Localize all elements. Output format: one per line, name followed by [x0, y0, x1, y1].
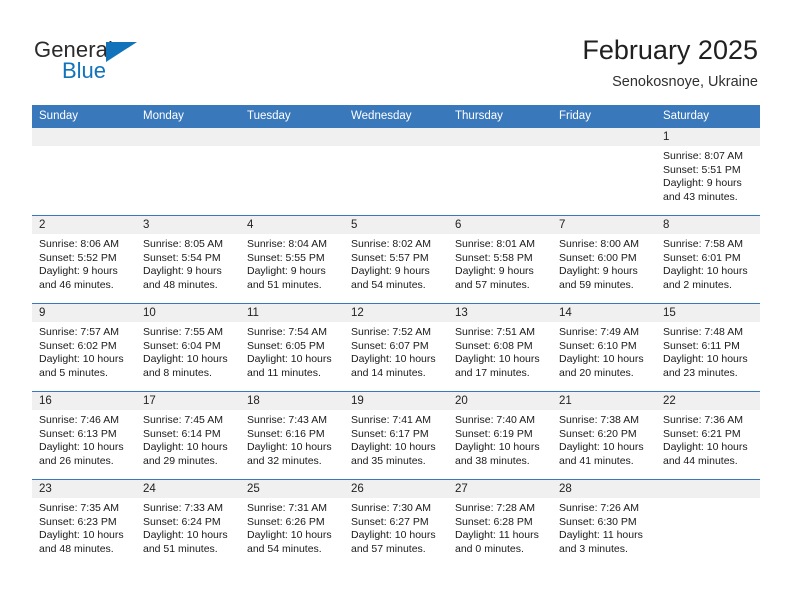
weekday-header-tuesday: Tuesday [240, 105, 344, 128]
day-details: Sunrise: 7:46 AMSunset: 6:13 PMDaylight:… [32, 410, 136, 468]
sunset-time: Sunset: 5:51 PM [663, 164, 754, 178]
day-number: 19 [344, 392, 448, 410]
daylight-duration-line2: and 48 minutes. [143, 279, 234, 293]
sunset-time: Sunset: 6:17 PM [351, 428, 442, 442]
logo-text-blue: Blue [62, 59, 106, 83]
daylight-duration-line1: Daylight: 11 hours [455, 529, 546, 543]
calendar-day-cell[interactable]: 27Sunrise: 7:28 AMSunset: 6:28 PMDayligh… [448, 480, 552, 568]
sunset-time: Sunset: 6:05 PM [247, 340, 338, 354]
daylight-duration-line2: and 14 minutes. [351, 367, 442, 381]
daylight-duration-line1: Daylight: 10 hours [663, 265, 754, 279]
calendar-day-cell-empty [32, 128, 136, 216]
day-number: 18 [240, 392, 344, 410]
day-details: Sunrise: 7:41 AMSunset: 6:17 PMDaylight:… [344, 410, 448, 468]
sunrise-time: Sunrise: 7:43 AM [247, 414, 338, 428]
weekday-header-thursday: Thursday [448, 105, 552, 128]
sunrise-time: Sunrise: 8:02 AM [351, 238, 442, 252]
daylight-duration-line2: and 54 minutes. [351, 279, 442, 293]
calendar-day-cell-empty [136, 128, 240, 216]
day-details: Sunrise: 7:48 AMSunset: 6:11 PMDaylight:… [656, 322, 760, 380]
day-number: 1 [656, 128, 760, 146]
day-number: 13 [448, 304, 552, 322]
sunset-time: Sunset: 6:19 PM [455, 428, 546, 442]
calendar-day-cell[interactable]: 19Sunrise: 7:41 AMSunset: 6:17 PMDayligh… [344, 392, 448, 480]
day-details: Sunrise: 7:45 AMSunset: 6:14 PMDaylight:… [136, 410, 240, 468]
sunrise-time: Sunrise: 7:38 AM [559, 414, 650, 428]
calendar-day-cell[interactable]: 17Sunrise: 7:45 AMSunset: 6:14 PMDayligh… [136, 392, 240, 480]
daylight-duration-line2: and 46 minutes. [39, 279, 130, 293]
daylight-duration-line1: Daylight: 11 hours [559, 529, 650, 543]
calendar-page: General Blue February 2025 Senokosnoye, … [0, 0, 792, 612]
daylight-duration-line2: and 59 minutes. [559, 279, 650, 293]
sunset-time: Sunset: 6:00 PM [559, 252, 650, 266]
daylight-duration-line2: and 32 minutes. [247, 455, 338, 469]
calendar-day-cell[interactable]: 12Sunrise: 7:52 AMSunset: 6:07 PMDayligh… [344, 304, 448, 392]
calendar-day-cell[interactable]: 4Sunrise: 8:04 AMSunset: 5:55 PMDaylight… [240, 216, 344, 304]
sunset-time: Sunset: 6:21 PM [663, 428, 754, 442]
daylight-duration-line1: Daylight: 10 hours [39, 353, 130, 367]
day-details: Sunrise: 7:57 AMSunset: 6:02 PMDaylight:… [32, 322, 136, 380]
day-details: Sunrise: 7:40 AMSunset: 6:19 PMDaylight:… [448, 410, 552, 468]
sunrise-time: Sunrise: 7:52 AM [351, 326, 442, 340]
day-details: Sunrise: 8:07 AMSunset: 5:51 PMDaylight:… [656, 146, 760, 204]
day-number: 12 [344, 304, 448, 322]
day-number: 15 [656, 304, 760, 322]
sunset-time: Sunset: 6:24 PM [143, 516, 234, 530]
calendar-day-cell[interactable]: 22Sunrise: 7:36 AMSunset: 6:21 PMDayligh… [656, 392, 760, 480]
logo-triangle-icon [106, 42, 137, 62]
daylight-duration-line1: Daylight: 10 hours [351, 353, 442, 367]
day-number: 25 [240, 480, 344, 498]
day-number: 2 [32, 216, 136, 234]
calendar-day-cell[interactable]: 13Sunrise: 7:51 AMSunset: 6:08 PMDayligh… [448, 304, 552, 392]
daylight-duration-line1: Daylight: 9 hours [39, 265, 130, 279]
calendar-day-cell[interactable]: 7Sunrise: 8:00 AMSunset: 6:00 PMDaylight… [552, 216, 656, 304]
day-details: Sunrise: 7:26 AMSunset: 6:30 PMDaylight:… [552, 498, 656, 556]
day-number: 11 [240, 304, 344, 322]
daylight-duration-line1: Daylight: 10 hours [143, 353, 234, 367]
sunrise-time: Sunrise: 7:41 AM [351, 414, 442, 428]
day-details: Sunrise: 7:30 AMSunset: 6:27 PMDaylight:… [344, 498, 448, 556]
day-number: 23 [32, 480, 136, 498]
page-title: February 2025 [582, 34, 758, 67]
day-number: 8 [656, 216, 760, 234]
day-details: Sunrise: 7:51 AMSunset: 6:08 PMDaylight:… [448, 322, 552, 380]
weekday-header-wednesday: Wednesday [344, 105, 448, 128]
title-block: February 2025 Senokosnoye, Ukraine [582, 34, 758, 91]
day-details: Sunrise: 7:52 AMSunset: 6:07 PMDaylight:… [344, 322, 448, 380]
day-number [136, 128, 240, 146]
general-blue-logo[interactable]: General Blue [34, 38, 234, 84]
day-details: Sunrise: 7:55 AMSunset: 6:04 PMDaylight:… [136, 322, 240, 380]
daylight-duration-line1: Daylight: 9 hours [247, 265, 338, 279]
sunset-time: Sunset: 5:58 PM [455, 252, 546, 266]
day-number: 10 [136, 304, 240, 322]
daylight-duration-line2: and 20 minutes. [559, 367, 650, 381]
daylight-duration-line1: Daylight: 9 hours [663, 177, 754, 191]
calendar-day-cell-empty [656, 480, 760, 568]
calendar-day-cell[interactable]: 28Sunrise: 7:26 AMSunset: 6:30 PMDayligh… [552, 480, 656, 568]
day-details: Sunrise: 7:36 AMSunset: 6:21 PMDaylight:… [656, 410, 760, 468]
day-number: 5 [344, 216, 448, 234]
daylight-duration-line2: and 54 minutes. [247, 543, 338, 557]
daylight-duration-line1: Daylight: 10 hours [247, 353, 338, 367]
sunrise-time: Sunrise: 7:36 AM [663, 414, 754, 428]
daylight-duration-line1: Daylight: 9 hours [559, 265, 650, 279]
day-details: Sunrise: 7:49 AMSunset: 6:10 PMDaylight:… [552, 322, 656, 380]
calendar-day-cell[interactable]: 15Sunrise: 7:48 AMSunset: 6:11 PMDayligh… [656, 304, 760, 392]
sunset-time: Sunset: 6:11 PM [663, 340, 754, 354]
sunset-time: Sunset: 6:10 PM [559, 340, 650, 354]
calendar-week-row: 1Sunrise: 8:07 AMSunset: 5:51 PMDaylight… [32, 128, 760, 216]
sunrise-time: Sunrise: 8:07 AM [663, 150, 754, 164]
sunrise-time: Sunrise: 7:57 AM [39, 326, 130, 340]
day-details: Sunrise: 7:28 AMSunset: 6:28 PMDaylight:… [448, 498, 552, 556]
daylight-duration-line2: and 8 minutes. [143, 367, 234, 381]
daylight-duration-line2: and 51 minutes. [247, 279, 338, 293]
calendar-body: 1Sunrise: 8:07 AMSunset: 5:51 PMDaylight… [32, 128, 760, 568]
calendar-header-row: SundayMondayTuesdayWednesdayThursdayFrid… [32, 105, 760, 128]
sunrise-time: Sunrise: 7:30 AM [351, 502, 442, 516]
daylight-duration-line1: Daylight: 10 hours [143, 529, 234, 543]
daylight-duration-line1: Daylight: 10 hours [143, 441, 234, 455]
sunrise-time: Sunrise: 7:51 AM [455, 326, 546, 340]
sunset-time: Sunset: 6:07 PM [351, 340, 442, 354]
calendar-day-cell[interactable]: 20Sunrise: 7:40 AMSunset: 6:19 PMDayligh… [448, 392, 552, 480]
sunset-time: Sunset: 6:04 PM [143, 340, 234, 354]
calendar-day-cell[interactable]: 5Sunrise: 8:02 AMSunset: 5:57 PMDaylight… [344, 216, 448, 304]
day-details: Sunrise: 8:00 AMSunset: 6:00 PMDaylight:… [552, 234, 656, 292]
sunrise-time: Sunrise: 7:55 AM [143, 326, 234, 340]
sunset-time: Sunset: 5:55 PM [247, 252, 338, 266]
daylight-duration-line2: and 35 minutes. [351, 455, 442, 469]
day-number: 28 [552, 480, 656, 498]
sunrise-time: Sunrise: 7:26 AM [559, 502, 650, 516]
daylight-duration-line2: and 29 minutes. [143, 455, 234, 469]
sunset-time: Sunset: 5:57 PM [351, 252, 442, 266]
calendar-day-cell[interactable]: 25Sunrise: 7:31 AMSunset: 6:26 PMDayligh… [240, 480, 344, 568]
day-number [552, 128, 656, 146]
day-details: Sunrise: 8:04 AMSunset: 5:55 PMDaylight:… [240, 234, 344, 292]
daylight-duration-line2: and 41 minutes. [559, 455, 650, 469]
day-number: 3 [136, 216, 240, 234]
sunrise-time: Sunrise: 7:28 AM [455, 502, 546, 516]
day-number: 16 [32, 392, 136, 410]
sunset-time: Sunset: 6:30 PM [559, 516, 650, 530]
daylight-duration-line2: and 23 minutes. [663, 367, 754, 381]
daylight-duration-line1: Daylight: 10 hours [663, 353, 754, 367]
day-details: Sunrise: 7:38 AMSunset: 6:20 PMDaylight:… [552, 410, 656, 468]
calendar-day-cell[interactable]: 10Sunrise: 7:55 AMSunset: 6:04 PMDayligh… [136, 304, 240, 392]
day-number [32, 128, 136, 146]
sunset-time: Sunset: 6:08 PM [455, 340, 546, 354]
day-number: 9 [32, 304, 136, 322]
day-details: Sunrise: 8:06 AMSunset: 5:52 PMDaylight:… [32, 234, 136, 292]
sunset-time: Sunset: 6:20 PM [559, 428, 650, 442]
day-number: 6 [448, 216, 552, 234]
daylight-duration-line2: and 0 minutes. [455, 543, 546, 557]
day-number [240, 128, 344, 146]
calendar-week-row: 2Sunrise: 8:06 AMSunset: 5:52 PMDaylight… [32, 216, 760, 304]
day-number: 7 [552, 216, 656, 234]
daylight-duration-line2: and 51 minutes. [143, 543, 234, 557]
daylight-duration-line2: and 11 minutes. [247, 367, 338, 381]
sunset-time: Sunset: 6:28 PM [455, 516, 546, 530]
calendar-day-cell-empty [552, 128, 656, 216]
daylight-duration-line1: Daylight: 10 hours [39, 529, 130, 543]
daylight-duration-line2: and 57 minutes. [351, 543, 442, 557]
sunrise-time: Sunrise: 7:33 AM [143, 502, 234, 516]
sunset-time: Sunset: 6:27 PM [351, 516, 442, 530]
daylight-duration-line1: Daylight: 10 hours [559, 441, 650, 455]
day-number [448, 128, 552, 146]
day-details: Sunrise: 7:58 AMSunset: 6:01 PMDaylight:… [656, 234, 760, 292]
day-details: Sunrise: 8:01 AMSunset: 5:58 PMDaylight:… [448, 234, 552, 292]
daylight-duration-line1: Daylight: 10 hours [247, 529, 338, 543]
daylight-duration-line1: Daylight: 10 hours [559, 353, 650, 367]
sunset-time: Sunset: 5:54 PM [143, 252, 234, 266]
sunrise-time: Sunrise: 7:45 AM [143, 414, 234, 428]
sunset-time: Sunset: 6:26 PM [247, 516, 338, 530]
sunset-time: Sunset: 6:02 PM [39, 340, 130, 354]
calendar-day-cell[interactable]: 9Sunrise: 7:57 AMSunset: 6:02 PMDaylight… [32, 304, 136, 392]
daylight-duration-line2: and 44 minutes. [663, 455, 754, 469]
day-number: 17 [136, 392, 240, 410]
daylight-duration-line1: Daylight: 10 hours [39, 441, 130, 455]
calendar-day-cell[interactable]: 11Sunrise: 7:54 AMSunset: 6:05 PMDayligh… [240, 304, 344, 392]
day-details: Sunrise: 7:54 AMSunset: 6:05 PMDaylight:… [240, 322, 344, 380]
calendar-day-cell[interactable]: 26Sunrise: 7:30 AMSunset: 6:27 PMDayligh… [344, 480, 448, 568]
calendar-day-cell[interactable]: 3Sunrise: 8:05 AMSunset: 5:54 PMDaylight… [136, 216, 240, 304]
sunrise-time: Sunrise: 7:54 AM [247, 326, 338, 340]
sunrise-time: Sunrise: 7:49 AM [559, 326, 650, 340]
day-details: Sunrise: 7:31 AMSunset: 6:26 PMDaylight:… [240, 498, 344, 556]
sunrise-time: Sunrise: 8:05 AM [143, 238, 234, 252]
sunrise-time: Sunrise: 8:01 AM [455, 238, 546, 252]
sunrise-time: Sunrise: 7:48 AM [663, 326, 754, 340]
daylight-duration-line2: and 26 minutes. [39, 455, 130, 469]
weekday-header-friday: Friday [552, 105, 656, 128]
sunset-time: Sunset: 6:23 PM [39, 516, 130, 530]
calendar-day-cell[interactable]: 23Sunrise: 7:35 AMSunset: 6:23 PMDayligh… [32, 480, 136, 568]
daylight-duration-line1: Daylight: 9 hours [143, 265, 234, 279]
calendar-day-cell[interactable]: 18Sunrise: 7:43 AMSunset: 6:16 PMDayligh… [240, 392, 344, 480]
day-number: 26 [344, 480, 448, 498]
sunset-time: Sunset: 6:16 PM [247, 428, 338, 442]
calendar-day-cell[interactable]: 21Sunrise: 7:38 AMSunset: 6:20 PMDayligh… [552, 392, 656, 480]
calendar-day-cell-empty [240, 128, 344, 216]
daylight-duration-line1: Daylight: 9 hours [455, 265, 546, 279]
day-details: Sunrise: 7:33 AMSunset: 6:24 PMDaylight:… [136, 498, 240, 556]
sunrise-time: Sunrise: 8:00 AM [559, 238, 650, 252]
calendar-day-cell[interactable]: 6Sunrise: 8:01 AMSunset: 5:58 PMDaylight… [448, 216, 552, 304]
sunset-time: Sunset: 5:52 PM [39, 252, 130, 266]
day-number: 22 [656, 392, 760, 410]
sunrise-time: Sunrise: 8:06 AM [39, 238, 130, 252]
daylight-duration-line1: Daylight: 10 hours [351, 441, 442, 455]
day-number: 14 [552, 304, 656, 322]
daylight-duration-line2: and 48 minutes. [39, 543, 130, 557]
calendar-day-cell-empty [344, 128, 448, 216]
sunset-time: Sunset: 6:14 PM [143, 428, 234, 442]
calendar-day-cell[interactable]: 14Sunrise: 7:49 AMSunset: 6:10 PMDayligh… [552, 304, 656, 392]
day-number: 27 [448, 480, 552, 498]
daylight-duration-line1: Daylight: 10 hours [247, 441, 338, 455]
day-number: 20 [448, 392, 552, 410]
day-details: Sunrise: 8:05 AMSunset: 5:54 PMDaylight:… [136, 234, 240, 292]
daylight-duration-line2: and 38 minutes. [455, 455, 546, 469]
daylight-duration-line1: Daylight: 9 hours [351, 265, 442, 279]
daylight-duration-line2: and 57 minutes. [455, 279, 546, 293]
sunrise-time: Sunrise: 7:40 AM [455, 414, 546, 428]
weekday-header-sunday: Sunday [32, 105, 136, 128]
day-number [344, 128, 448, 146]
day-number: 4 [240, 216, 344, 234]
calendar-table: SundayMondayTuesdayWednesdayThursdayFrid… [32, 105, 760, 568]
day-number: 24 [136, 480, 240, 498]
sunrise-time: Sunrise: 7:31 AM [247, 502, 338, 516]
weekday-header-monday: Monday [136, 105, 240, 128]
sunrise-time: Sunrise: 8:04 AM [247, 238, 338, 252]
calendar-week-row: 16Sunrise: 7:46 AMSunset: 6:13 PMDayligh… [32, 392, 760, 480]
day-details: Sunrise: 7:35 AMSunset: 6:23 PMDaylight:… [32, 498, 136, 556]
calendar-day-cell[interactable]: 8Sunrise: 7:58 AMSunset: 6:01 PMDaylight… [656, 216, 760, 304]
daylight-duration-line1: Daylight: 10 hours [455, 441, 546, 455]
daylight-duration-line2: and 3 minutes. [559, 543, 650, 557]
sunrise-time: Sunrise: 7:35 AM [39, 502, 130, 516]
weekday-header-saturday: Saturday [656, 105, 760, 128]
sunset-time: Sunset: 6:13 PM [39, 428, 130, 442]
daylight-duration-line1: Daylight: 10 hours [455, 353, 546, 367]
sunset-time: Sunset: 6:01 PM [663, 252, 754, 266]
daylight-duration-line1: Daylight: 10 hours [351, 529, 442, 543]
daylight-duration-line2: and 17 minutes. [455, 367, 546, 381]
sunrise-time: Sunrise: 7:46 AM [39, 414, 130, 428]
daylight-duration-line2: and 43 minutes. [663, 191, 754, 205]
page-header: General Blue February 2025 Senokosnoye, … [0, 0, 792, 100]
sunrise-time: Sunrise: 7:58 AM [663, 238, 754, 252]
calendar-day-cell[interactable]: 24Sunrise: 7:33 AMSunset: 6:24 PMDayligh… [136, 480, 240, 568]
daylight-duration-line2: and 2 minutes. [663, 279, 754, 293]
day-number [656, 480, 760, 498]
calendar-week-row: 9Sunrise: 7:57 AMSunset: 6:02 PMDaylight… [32, 304, 760, 392]
daylight-duration-line2: and 5 minutes. [39, 367, 130, 381]
calendar-day-cell[interactable]: 16Sunrise: 7:46 AMSunset: 6:13 PMDayligh… [32, 392, 136, 480]
day-details: Sunrise: 7:43 AMSunset: 6:16 PMDaylight:… [240, 410, 344, 468]
daylight-duration-line1: Daylight: 10 hours [663, 441, 754, 455]
page-subtitle: Senokosnoye, Ukraine [582, 73, 758, 91]
calendar-day-cell[interactable]: 2Sunrise: 8:06 AMSunset: 5:52 PMDaylight… [32, 216, 136, 304]
day-number: 21 [552, 392, 656, 410]
day-details: Sunrise: 8:02 AMSunset: 5:57 PMDaylight:… [344, 234, 448, 292]
calendar-day-cell-empty [448, 128, 552, 216]
calendar-day-cell[interactable]: 1Sunrise: 8:07 AMSunset: 5:51 PMDaylight… [656, 128, 760, 216]
calendar-week-row: 23Sunrise: 7:35 AMSunset: 6:23 PMDayligh… [32, 480, 760, 568]
